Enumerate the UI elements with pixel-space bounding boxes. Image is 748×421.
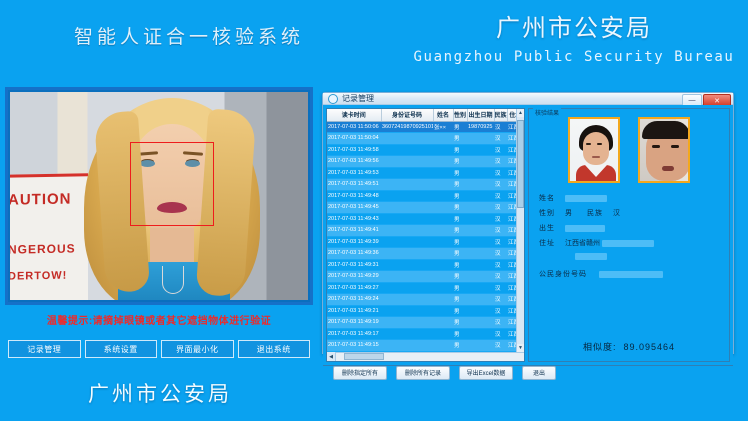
cell-id-number [381, 156, 433, 168]
cell-name [433, 317, 453, 329]
cell-nation: 汉 [494, 236, 507, 248]
table-row[interactable]: 2017-07-03 11:49:45男汉江西省赣州市 [327, 202, 524, 214]
cell-read-time: 2017-07-03 11:49:27 [327, 282, 381, 294]
col-name[interactable]: 姓名 [433, 109, 453, 121]
cell-id-number [381, 328, 433, 340]
cell-sex: 男 [453, 144, 467, 156]
cell-id-number [381, 179, 433, 191]
table-row[interactable]: 2017-07-03 11:50:04男汉江西省赣州市 [327, 133, 524, 145]
cell-birth-date [467, 133, 494, 145]
cell-nation: 汉 [494, 121, 507, 133]
cell-read-time: 2017-07-03 11:50:04 [327, 133, 381, 145]
cell-birth-date [467, 259, 494, 271]
scroll-left-icon[interactable]: ◀ [327, 352, 336, 361]
table-header-row: 读卡时间 身份证号码 姓名 性别 出生日期 民族 住址 [327, 109, 524, 121]
scroll-up-icon[interactable]: ▲ [517, 109, 524, 117]
bureau-title-en: Guangzhou Public Security Bureau [400, 49, 748, 65]
cell-id-number [381, 236, 433, 248]
cell-name [433, 328, 453, 340]
cell-sex: 男 [453, 156, 467, 168]
cell-sex: 男 [453, 202, 467, 214]
cell-nation: 汉 [494, 179, 507, 191]
scroll-thumb[interactable] [517, 120, 524, 208]
table-row[interactable]: 2017-07-03 11:49:56男汉江西省赣州市 [327, 156, 524, 168]
face-detection-box [130, 142, 214, 226]
cell-name [433, 202, 453, 214]
cell-name [433, 225, 453, 237]
warning-tip: 温馨提示:请摘掉眼镜或者其它遮挡物体进行验证 [5, 312, 313, 327]
cell-id-number [381, 133, 433, 145]
field-address-line2 [575, 253, 729, 260]
record-management-button[interactable]: 记录管理 [8, 340, 81, 358]
id-number-value-redacted [599, 271, 663, 278]
cell-birth-date [467, 294, 494, 306]
cell-birth-date [467, 213, 494, 225]
cell-sex: 男 [453, 133, 467, 145]
exit-system-button[interactable]: 退出系统 [238, 340, 311, 358]
table-row[interactable]: 2017-07-03 11:49:19男汉江西省赣州市 [327, 317, 524, 329]
result-panel-legend: 核验结果 [533, 108, 561, 117]
cell-birth-date [467, 156, 494, 168]
id-card-photo [568, 117, 620, 183]
field-id-number: 公民身份号码 [539, 269, 729, 279]
cell-read-time: 2017-07-03 11:49:45 [327, 202, 381, 214]
address-value-redacted [602, 240, 654, 247]
cell-name [433, 236, 453, 248]
field-sex-nation: 性别 男 民族 汉 [539, 208, 729, 218]
cell-nation: 汉 [494, 144, 507, 156]
cell-read-time: 2017-07-03 11:49:43 [327, 213, 381, 225]
main-button-bar: 记录管理 系统设置 界面最小化 退出系统 [8, 340, 310, 358]
cell-birth-date [467, 317, 494, 329]
cell-id-number [381, 190, 433, 202]
table-row[interactable]: 2017-07-03 11:49:15男汉江西省赣州市 [327, 340, 524, 352]
cell-read-time: 2017-07-03 11:49:56 [327, 156, 381, 168]
bureau-title-cn: 广州市公安局 [400, 8, 748, 43]
live-capture-photo [638, 117, 690, 183]
cell-name [433, 179, 453, 191]
footer-bureau-name: 广州市公安局 [0, 378, 320, 408]
table-row[interactable]: 2017-07-03 11:49:17男汉江西省赣州市 [327, 328, 524, 340]
field-birth: 出生 [539, 223, 729, 233]
similarity-score: 相似度: 89.095464 [529, 340, 729, 353]
cell-birth-date [467, 190, 494, 202]
field-address: 住址 江西省赣州 [539, 238, 729, 248]
cell-sex: 男 [453, 236, 467, 248]
col-id-number[interactable]: 身份证号码 [381, 109, 433, 121]
cell-nation: 汉 [494, 282, 507, 294]
delete-selected-button[interactable]: 删除指定所有 [333, 366, 387, 380]
cell-sex: 男 [453, 190, 467, 202]
table-row[interactable]: 2017-07-03 11:49:39男汉江西省赣州市 [327, 236, 524, 248]
page-title-left: 智能人证合一核验系统 [0, 22, 378, 49]
cell-name: 张×× [433, 121, 453, 133]
records-table-panel: 读卡时间 身份证号码 姓名 性别 出生日期 民族 住址 2017-07-03 1… [326, 108, 525, 362]
cell-read-time: 2017-07-03 11:49:31 [327, 259, 381, 271]
cell-read-time: 2017-07-03 11:49:48 [327, 190, 381, 202]
delete-all-button[interactable]: 删除所有记录 [396, 366, 450, 380]
records-table-rows: 2017-07-03 11:50:06360724198709251012张××… [327, 121, 524, 351]
table-row[interactable]: 2017-07-03 11:50:06360724198709251012张××… [327, 121, 524, 133]
cell-name [433, 213, 453, 225]
records-table-body[interactable]: 读卡时间 身份证号码 姓名 性别 出生日期 民族 住址 2017-07-03 1… [327, 109, 524, 352]
table-row[interactable]: 2017-07-03 11:49:51男汉江西省赣州市 [327, 179, 524, 191]
cell-birth-date [467, 340, 494, 352]
address-label: 住址 [539, 238, 565, 248]
cell-sex: 男 [453, 282, 467, 294]
app-logo-icon [328, 94, 338, 104]
similarity-value: 89.095464 [623, 342, 675, 352]
cell-name [433, 282, 453, 294]
sex-value: 男 [565, 208, 587, 218]
cell-birth-date [467, 248, 494, 260]
cell-sex: 男 [453, 294, 467, 306]
cell-name [433, 271, 453, 283]
window-footer-buttons: 删除指定所有 删除所有记录 导出Excel数据 退出 [323, 365, 733, 380]
cell-nation: 汉 [494, 328, 507, 340]
hscroll-thumb[interactable] [344, 353, 384, 360]
system-settings-button[interactable]: 系统设置 [85, 340, 158, 358]
caution-sign-line1: AUTION [10, 190, 88, 208]
table-row[interactable]: 2017-07-03 11:49:43男汉江西省赣州市 [327, 213, 524, 225]
name-value-redacted [565, 195, 607, 202]
cell-id-number [381, 317, 433, 329]
table-row[interactable]: 2017-07-03 11:49:29男汉江西省赣州市 [327, 271, 524, 283]
cell-id-number [381, 202, 433, 214]
cell-nation: 汉 [494, 305, 507, 317]
cell-birth-date [467, 328, 494, 340]
table-row[interactable]: 2017-07-03 11:49:41男汉江西省赣州市 [327, 225, 524, 237]
table-row[interactable]: 2017-07-03 11:49:48男汉江西省赣州市 [327, 190, 524, 202]
cell-nation: 汉 [494, 271, 507, 283]
page-title-right: 广州市公安局 Guangzhou Public Security Bureau [400, 8, 748, 65]
cell-name [433, 305, 453, 317]
cell-id-number: 360724198709251012 [381, 121, 433, 133]
nation-label: 民族 [587, 208, 613, 218]
cell-sex: 男 [453, 167, 467, 179]
cell-read-time: 2017-07-03 11:49:15 [327, 340, 381, 352]
table-row[interactable]: 2017-07-03 11:49:53男汉江西省赣州市 [327, 167, 524, 179]
cell-nation: 汉 [494, 133, 507, 145]
cell-name [433, 248, 453, 260]
birth-value-redacted [565, 225, 605, 232]
cell-nation: 汉 [494, 294, 507, 306]
cell-id-number [381, 144, 433, 156]
window-body: 读卡时间 身份证号码 姓名 性别 出生日期 民族 住址 2017-07-03 1… [323, 105, 733, 365]
person-info-fields: 姓名 性别 男 民族 汉 出生 住址 江西省赣州 [529, 183, 729, 279]
table-row[interactable]: 2017-07-03 11:49:24男汉江西省赣州市 [327, 294, 524, 306]
window-title-bar[interactable]: 记录管理 — ✕ [323, 93, 733, 105]
col-nation[interactable]: 民族 [494, 109, 507, 121]
cell-read-time: 2017-07-03 11:49:21 [327, 305, 381, 317]
records-table: 读卡时间 身份证号码 姓名 性别 出生日期 民族 住址 2017-07-03 1… [327, 109, 524, 352]
cell-id-number [381, 294, 433, 306]
cell-nation: 汉 [494, 248, 507, 260]
name-label: 姓名 [539, 193, 565, 203]
cell-name [433, 340, 453, 352]
cell-id-number [381, 213, 433, 225]
cell-id-number [381, 340, 433, 352]
cell-nation: 汉 [494, 259, 507, 271]
cell-read-time: 2017-07-03 11:49:29 [327, 271, 381, 283]
cell-birth-date [467, 202, 494, 214]
cell-sex: 男 [453, 121, 467, 133]
cell-sex: 男 [453, 271, 467, 283]
cell-sex: 男 [453, 317, 467, 329]
cell-read-time: 2017-07-03 11:49:41 [327, 225, 381, 237]
table-row[interactable]: 2017-07-03 11:49:27男汉江西省赣州市 [327, 282, 524, 294]
id-number-label: 公民身份号码 [539, 269, 591, 279]
cell-read-time: 2017-07-03 11:50:06 [327, 121, 381, 133]
cell-sex: 男 [453, 328, 467, 340]
cell-nation: 汉 [494, 213, 507, 225]
cell-sex: 男 [453, 179, 467, 191]
cell-name [433, 190, 453, 202]
col-birth-date[interactable]: 出生日期 [467, 109, 494, 121]
cell-name [433, 144, 453, 156]
table-row[interactable]: 2017-07-03 11:49:31男汉江西省赣州市 [327, 259, 524, 271]
table-row[interactable]: 2017-07-03 11:49:36男汉江西省赣州市 [327, 248, 524, 260]
birth-label: 出生 [539, 223, 565, 233]
cell-read-time: 2017-07-03 11:49:51 [327, 179, 381, 191]
cell-read-time: 2017-07-03 11:49:19 [327, 317, 381, 329]
photo-comparison [529, 109, 729, 183]
cell-birth-date: 19870925 [467, 121, 494, 133]
cell-nation: 汉 [494, 190, 507, 202]
table-row[interactable]: 2017-07-03 11:49:58男汉江西省赣州市 [327, 144, 524, 156]
cell-id-number [381, 248, 433, 260]
cell-name [433, 294, 453, 306]
cell-sex: 男 [453, 213, 467, 225]
cell-id-number [381, 305, 433, 317]
cell-id-number [381, 271, 433, 283]
cell-id-number [381, 167, 433, 179]
cell-birth-date [467, 236, 494, 248]
field-name: 姓名 [539, 193, 729, 203]
cell-nation: 汉 [494, 156, 507, 168]
cell-name [433, 167, 453, 179]
cell-read-time: 2017-07-03 11:49:53 [327, 167, 381, 179]
cell-nation: 汉 [494, 167, 507, 179]
cell-read-time: 2017-07-03 11:49:24 [327, 294, 381, 306]
cell-read-time: 2017-07-03 11:49:58 [327, 144, 381, 156]
scroll-down-icon[interactable]: ▼ [517, 344, 524, 352]
cell-nation: 汉 [494, 317, 507, 329]
cell-birth-date [467, 305, 494, 317]
caution-sign-line3: DERTOW! [10, 269, 88, 282]
exit-dialog-button[interactable]: 退出 [522, 366, 556, 380]
window-title-text: 记录管理 [342, 93, 374, 104]
table-horizontal-scrollbar[interactable]: ◀ [327, 352, 524, 361]
cell-sex: 男 [453, 225, 467, 237]
export-excel-button[interactable]: 导出Excel数据 [459, 366, 513, 380]
minimize-window-button[interactable]: 界面最小化 [161, 340, 234, 358]
caution-sign: AUTION NGEROUS DERTOW! [10, 173, 88, 300]
col-sex[interactable]: 性别 [453, 109, 467, 121]
cell-id-number [381, 225, 433, 237]
cell-read-time: 2017-07-03 11:49:39 [327, 236, 381, 248]
caution-sign-line2: NGEROUS [10, 241, 88, 256]
cell-sex: 男 [453, 259, 467, 271]
cell-id-number [381, 259, 433, 271]
cell-birth-date [467, 167, 494, 179]
cell-name [433, 259, 453, 271]
cell-id-number [381, 282, 433, 294]
cell-read-time: 2017-07-03 11:49:36 [327, 248, 381, 260]
table-vertical-scrollbar[interactable]: ▲ ▼ [516, 109, 524, 352]
cell-birth-date [467, 144, 494, 156]
record-management-window: 记录管理 — ✕ 读卡时间 身份证号码 姓名 性别 出生日期 民族 [322, 92, 734, 354]
cell-sex: 男 [453, 340, 467, 352]
col-read-time[interactable]: 读卡时间 [327, 109, 381, 121]
cell-name [433, 156, 453, 168]
cell-nation: 汉 [494, 202, 507, 214]
similarity-label: 相似度: [583, 342, 617, 352]
cell-birth-date [467, 225, 494, 237]
address-value: 江西省赣州 [565, 238, 600, 248]
cell-birth-date [467, 271, 494, 283]
cell-sex: 男 [453, 248, 467, 260]
cell-name [433, 133, 453, 145]
verification-result-panel: 核验结果 姓名 [528, 108, 730, 362]
nation-value: 汉 [613, 208, 620, 218]
cell-birth-date [467, 282, 494, 294]
cell-nation: 汉 [494, 225, 507, 237]
cell-read-time: 2017-07-03 11:49:17 [327, 328, 381, 340]
cell-sex: 男 [453, 305, 467, 317]
table-row[interactable]: 2017-07-03 11:49:21男汉江西省赣州市 [327, 305, 524, 317]
address-line2-redacted [575, 253, 607, 260]
video-feed: AUTION NGEROUS DERTOW! [10, 92, 308, 300]
live-video-panel: AUTION NGEROUS DERTOW! [5, 87, 313, 305]
cell-nation: 汉 [494, 340, 507, 352]
cell-birth-date [467, 179, 494, 191]
sex-label: 性别 [539, 208, 565, 218]
